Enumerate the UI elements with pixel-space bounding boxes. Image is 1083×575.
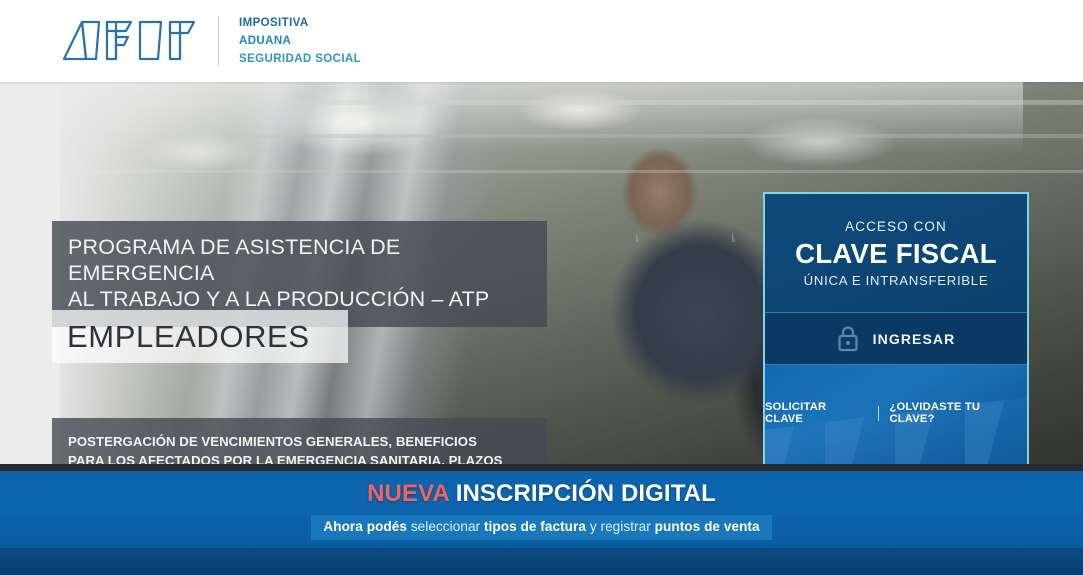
login-header: ACCESO CON CLAVE FISCAL ÚNICA E INTRANSF… [765,194,1027,313]
ingresar-label: INGRESAR [873,331,956,347]
promo-sub-b2: tipos de factura [484,519,586,534]
promo-sub-n1: seleccionar [407,519,484,534]
hero-subtitle: EMPLEADORES [52,319,310,355]
hero-body-line-2: PARA LOS AFECTADOS POR LA EMERGENCIA SAN… [68,451,531,464]
olvidaste-clave-link[interactable]: ¿OLVIDASTE TU CLAVE? [889,401,1027,425]
hero-subtitle-block: EMPLEADORES [52,310,348,363]
hero-body-line-1: POSTERGACIÓN DE VENCIMIENTOS GENERALES, … [68,432,531,451]
clave-fiscal-login-panel: ACCESO CON CLAVE FISCAL ÚNICA E INTRANSF… [763,192,1029,464]
promo-sub-b3: puntos de venta [655,519,760,534]
hero-bottom-strip [0,464,1083,471]
hero-title-line-2: AL TRABAJO Y A LA PRODUCCIÓN – ATP [68,286,531,312]
login-clave-fiscal-title: CLAVE FISCAL [795,237,997,270]
promo-title-rest: INSCRIPCIÓN DIGITAL [449,480,716,507]
solicitar-clave-link[interactable]: SOLICITAR CLAVE [765,401,867,425]
login-secondary-links: SOLICITAR CLAVE ¿OLVIDASTE TU CLAVE? [765,401,1027,425]
promo-banner-title: NUEVA INSCRIPCIÓN DIGITAL [367,480,716,508]
promo-title-highlight: NUEVA [367,480,449,507]
login-unica-label: ÚNICA E INTRANSFERIBLE [804,273,989,288]
ingresar-button[interactable]: INGRESAR [765,313,1027,365]
tagline-aduana: ADUANA [239,33,361,50]
promo-sub-b1: Ahora podés [323,519,407,534]
lock-icon [837,325,859,352]
tagline-seguridad-social: SEGURIDAD SOCIAL [239,51,361,68]
links-separator [878,406,879,421]
login-links-area: SOLICITAR CLAVE ¿OLVIDASTE TU CLAVE? AYU… [765,365,1027,464]
site-header: IMPOSITIVA ADUANA SEGURIDAD SOCIAL [0,0,1083,82]
hero-section: PROGRAMA DE ASISTENCIA DE EMERGENCIA AL … [0,82,1083,464]
footer-band [0,548,1083,575]
promo-banner-subtitle: Ahora podés seleccionar tipos de factura… [311,515,771,540]
header-divider [218,16,219,66]
page-root: IMPOSITIVA ADUANA SEGURIDAD SOCIAL PROGR… [0,0,1083,575]
login-acceso-label: ACCESO CON [845,219,947,234]
hero-title-line-1: PROGRAMA DE ASISTENCIA DE EMERGENCIA [68,234,531,286]
hero-body-block: POSTERGACIÓN DE VENCIMIENTOS GENERALES, … [52,418,547,464]
header-taglines: IMPOSITIVA ADUANA SEGURIDAD SOCIAL [239,15,361,68]
afip-logo-icon [52,17,200,65]
afip-logo[interactable] [52,17,202,65]
promo-sub-n2: y registrar [586,519,655,534]
tagline-impositiva: IMPOSITIVA [239,15,361,32]
promo-banner[interactable]: NUEVA INSCRIPCIÓN DIGITAL Ahora podés se… [0,471,1083,548]
